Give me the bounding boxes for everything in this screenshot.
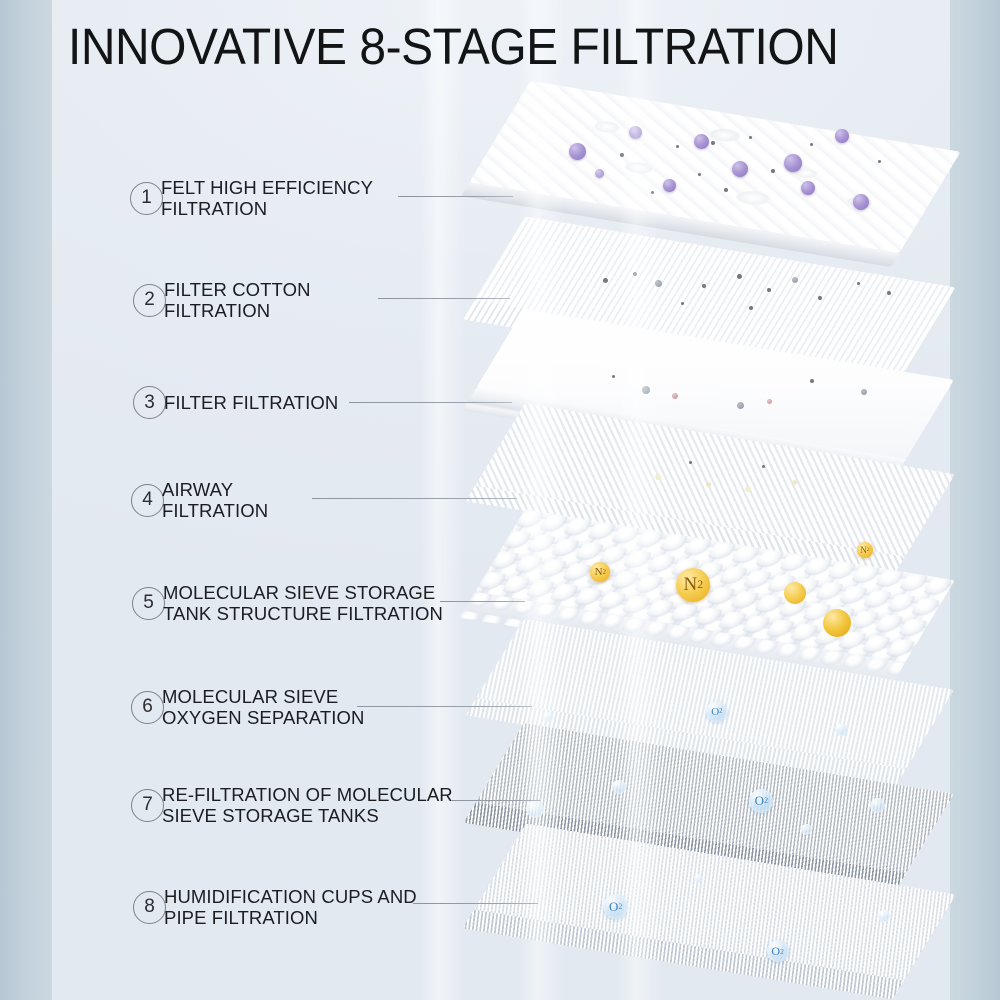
stage-label-7: RE-FILTRATION OF MOLECULAR SIEVE STORAGE… bbox=[162, 784, 453, 826]
stage-label-2: FILTER COTTON FILTRATION bbox=[164, 279, 311, 321]
humidification-layer: O2 O2 bbox=[500, 852, 930, 952]
leader-line-3 bbox=[349, 402, 512, 403]
stage-badge-5: 5 bbox=[132, 587, 165, 620]
page-title: INNOVATIVE 8-STAGE FILTRATION bbox=[68, 16, 886, 78]
stage-label-5: MOLECULAR SIEVE STORAGE TANK STRUCTURE F… bbox=[163, 582, 443, 624]
stage-label-3: FILTER FILTRATION bbox=[164, 392, 338, 413]
stage-callout-8[interactable]: 8 HUMIDIFICATION CUPS AND PIPE FILTRATIO… bbox=[133, 886, 417, 928]
stage-callout-4[interactable]: 4 AIRWAY FILTRATION bbox=[131, 479, 268, 521]
stage-label-4: AIRWAY FILTRATION bbox=[162, 479, 268, 521]
molecular-sieve-bead-layer: N2 N2 N2 bbox=[500, 538, 930, 634]
leader-line-7 bbox=[452, 800, 540, 801]
stage-label-6: MOLECULAR SIEVE OXYGEN SEPARATION bbox=[162, 686, 365, 728]
stage-callout-3[interactable]: 3 FILTER FILTRATION bbox=[133, 386, 338, 419]
leader-line-1 bbox=[398, 196, 513, 197]
stage-label-8: HUMIDIFICATION CUPS AND PIPE FILTRATION bbox=[164, 886, 417, 928]
stage-callout-7[interactable]: 7 RE-FILTRATION OF MOLECULAR SIEVE STORA… bbox=[131, 784, 453, 826]
leader-line-8 bbox=[413, 903, 538, 904]
stage-badge-2: 2 bbox=[133, 284, 166, 317]
stage-badge-1: 1 bbox=[130, 182, 163, 215]
felt-layer bbox=[500, 108, 930, 226]
airway-layer bbox=[500, 432, 930, 528]
stage-callout-6[interactable]: 6 MOLECULAR SIEVE OXYGEN SEPARATION bbox=[131, 686, 365, 728]
stage-callout-5[interactable]: 5 MOLECULAR SIEVE STORAGE TANK STRUCTURE… bbox=[132, 582, 443, 624]
filtration-poster: N2 N2 N2 O2 bbox=[0, 0, 1000, 1000]
stage-badge-7: 7 bbox=[131, 789, 164, 822]
stage-badge-3: 3 bbox=[133, 386, 166, 419]
leader-line-5 bbox=[440, 601, 525, 602]
leader-line-6 bbox=[357, 706, 532, 707]
stage-label-1: FELT HIGH EFFICIENCY FILTRATION bbox=[161, 177, 373, 219]
stage-callout-1[interactable]: 1 FELT HIGH EFFICIENCY FILTRATION bbox=[130, 177, 373, 219]
stage-badge-4: 4 bbox=[131, 484, 164, 517]
nitrogen-molecule-marker-top-right: N2 bbox=[857, 542, 873, 558]
stage-badge-8: 8 bbox=[133, 891, 166, 924]
stage-callout-2[interactable]: 2 FILTER COTTON FILTRATION bbox=[133, 279, 311, 321]
oxygen-separation-layer: O2 bbox=[500, 648, 930, 740]
stage-badge-6: 6 bbox=[131, 691, 164, 724]
leader-line-4 bbox=[312, 498, 517, 499]
leader-line-2 bbox=[378, 298, 510, 299]
